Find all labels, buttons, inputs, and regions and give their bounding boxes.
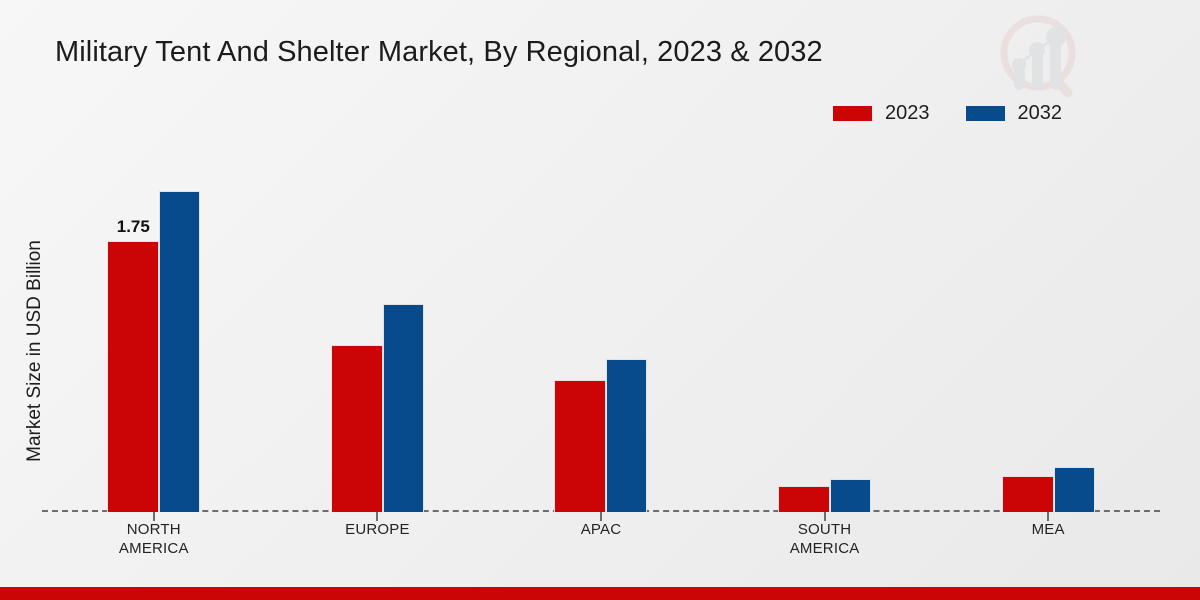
- category-label-line: APAC: [489, 520, 713, 539]
- category-label: SOUTHAMERICA: [713, 520, 937, 558]
- category-label-line: NORTH: [42, 520, 266, 539]
- legend-item-2023[interactable]: 2023: [833, 102, 930, 125]
- category-label-line: SOUTH: [713, 520, 937, 539]
- category-label-line: EUROPE: [266, 520, 490, 539]
- chart-legend: 2023 2032: [833, 102, 1062, 125]
- bar-groups: 1.75NORTHAMERICAEUROPEAPACSOUTHAMERICAME…: [42, 140, 1160, 512]
- plot-area: 1.75NORTHAMERICAEUROPEAPACSOUTHAMERICAME…: [42, 140, 1160, 512]
- bar-pair: 1.75: [107, 191, 200, 512]
- bar-2023-south-america[interactable]: [778, 486, 830, 512]
- legend-swatch-2023: [833, 106, 872, 121]
- bar-2032-mea[interactable]: [1054, 467, 1095, 512]
- watermark-logo-icon: [988, 8, 1096, 108]
- bar-2032-south-america[interactable]: [830, 479, 871, 512]
- bar-pair: [778, 479, 871, 512]
- legend-label-2032: 2032: [1018, 102, 1063, 125]
- bar-group: 1.75NORTHAMERICA: [42, 140, 266, 512]
- category-label-line: MEA: [936, 520, 1160, 539]
- chart-container: Military Tent And Shelter Market, By Reg…: [0, 0, 1200, 600]
- bar-2032-apac[interactable]: [606, 359, 647, 512]
- legend-item-2032[interactable]: 2032: [966, 102, 1063, 125]
- bar-group: SOUTHAMERICA: [713, 140, 937, 512]
- bar-value-label: 1.75: [117, 217, 150, 237]
- bar-pair: [1002, 467, 1095, 512]
- bar-2023-mea[interactable]: [1002, 476, 1054, 512]
- category-label-line: AMERICA: [42, 539, 266, 558]
- category-label-line: AMERICA: [713, 539, 937, 558]
- footer-band: [0, 587, 1200, 600]
- legend-label-2023: 2023: [885, 102, 930, 125]
- bar-2023-apac[interactable]: [554, 380, 606, 512]
- bar-group: APAC: [489, 140, 713, 512]
- category-label: EUROPE: [266, 520, 490, 539]
- bar-pair: [331, 304, 424, 512]
- bar-2032-north-america[interactable]: [159, 191, 200, 512]
- bar-2023-north-america[interactable]: 1.75: [107, 241, 159, 512]
- bar-group: MEA: [936, 140, 1160, 512]
- category-label: APAC: [489, 520, 713, 539]
- bar-2023-europe[interactable]: [331, 345, 383, 512]
- bar-pair: [554, 359, 647, 512]
- bar-2032-europe[interactable]: [383, 304, 424, 512]
- legend-swatch-2032: [966, 106, 1005, 121]
- category-label: NORTHAMERICA: [42, 520, 266, 558]
- chart-title: Military Tent And Shelter Market, By Reg…: [55, 36, 823, 69]
- category-label: MEA: [936, 520, 1160, 539]
- bar-group: EUROPE: [266, 140, 490, 512]
